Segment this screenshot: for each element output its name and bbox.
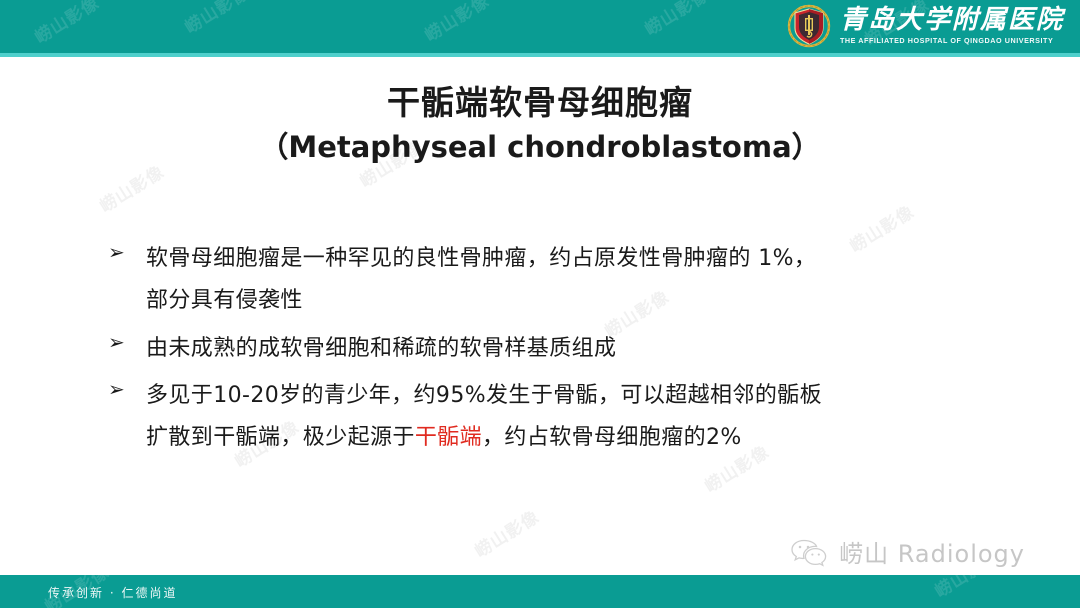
hospital-name-cn: 青岛大学附属医院 <box>840 7 1064 33</box>
hospital-logo: 青岛大学附属医院 THE AFFILIATED HOSPITAL OF QING… <box>787 4 1064 48</box>
bullet-text: 由未成熟的成软骨细胞和稀疏的软骨样基质组成 <box>146 328 616 370</box>
bullet-item: ➢由未成熟的成软骨细胞和稀疏的软骨样基质组成 <box>108 328 1008 370</box>
bullet-line: 由未成熟的成软骨细胞和稀疏的软骨样基质组成 <box>146 328 616 370</box>
bullet-line: 多见于10-20岁的青少年，约95%发生于骨骺，可以超越相邻的骺板 <box>146 375 822 417</box>
slide-title: 干骺端软骨母细胞瘤 （Metaphyseal chondroblastoma） <box>0 82 1080 167</box>
presentation-slide: 青岛大学附属医院 THE AFFILIATED HOSPITAL OF QING… <box>0 0 1080 608</box>
header-accent-line <box>0 53 1080 57</box>
slide-body: ➢软骨母细胞瘤是一种罕见的良性骨肿瘤，约占原发性骨肿瘤的 1%，部分具有侵袭性➢… <box>108 238 1008 465</box>
slide-title-en: （Metaphyseal chondroblastoma） <box>0 129 1080 167</box>
bullet-text: 多见于10-20岁的青少年，约95%发生于骨骺，可以超越相邻的骺板扩散到干骺端，… <box>146 375 822 459</box>
bullet-segment: ，约占软骨母细胞瘤的2% <box>482 425 742 450</box>
hospital-logo-text: 青岛大学附属医院 THE AFFILIATED HOSPITAL OF QING… <box>840 7 1064 44</box>
highlighted-term: 干骺端 <box>415 425 482 450</box>
bullet-text: 软骨母细胞瘤是一种罕见的良性骨肿瘤，约占原发性骨肿瘤的 1%，部分具有侵袭性 <box>146 238 816 322</box>
footer-slogan: 传承创新 · 仁德尚道 <box>48 584 177 601</box>
hospital-name-en: THE AFFILIATED HOSPITAL OF QINGDAO UNIVE… <box>840 37 1053 44</box>
hospital-crest-icon <box>787 4 831 48</box>
bullet-item: ➢软骨母细胞瘤是一种罕见的良性骨肿瘤，约占原发性骨肿瘤的 1%，部分具有侵袭性 <box>108 238 1008 322</box>
bullet-marker-icon: ➢ <box>108 328 146 352</box>
channel-watermark: 崂山 Radiology <box>790 534 1025 569</box>
bullet-marker-icon: ➢ <box>108 375 146 399</box>
bullet-line: 部分具有侵袭性 <box>146 280 816 322</box>
bullet-line: 软骨母细胞瘤是一种罕见的良性骨肿瘤，约占原发性骨肿瘤的 1%， <box>146 238 816 280</box>
wechat-icon <box>790 537 830 567</box>
bullet-item: ➢多见于10-20岁的青少年，约95%发生于骨骺，可以超越相邻的骺板扩散到干骺端… <box>108 375 1008 459</box>
channel-name: 崂山 Radiology <box>839 534 1025 569</box>
slide-title-cn: 干骺端软骨母细胞瘤 <box>0 82 1080 123</box>
bullet-marker-icon: ➢ <box>108 238 146 262</box>
watermark-text: 崂山影像 <box>469 503 543 562</box>
bullet-segment: 扩散到干骺端，极少起源于 <box>146 425 415 450</box>
bullet-line: 扩散到干骺端，极少起源于干骺端，约占软骨母细胞瘤的2% <box>146 417 822 459</box>
